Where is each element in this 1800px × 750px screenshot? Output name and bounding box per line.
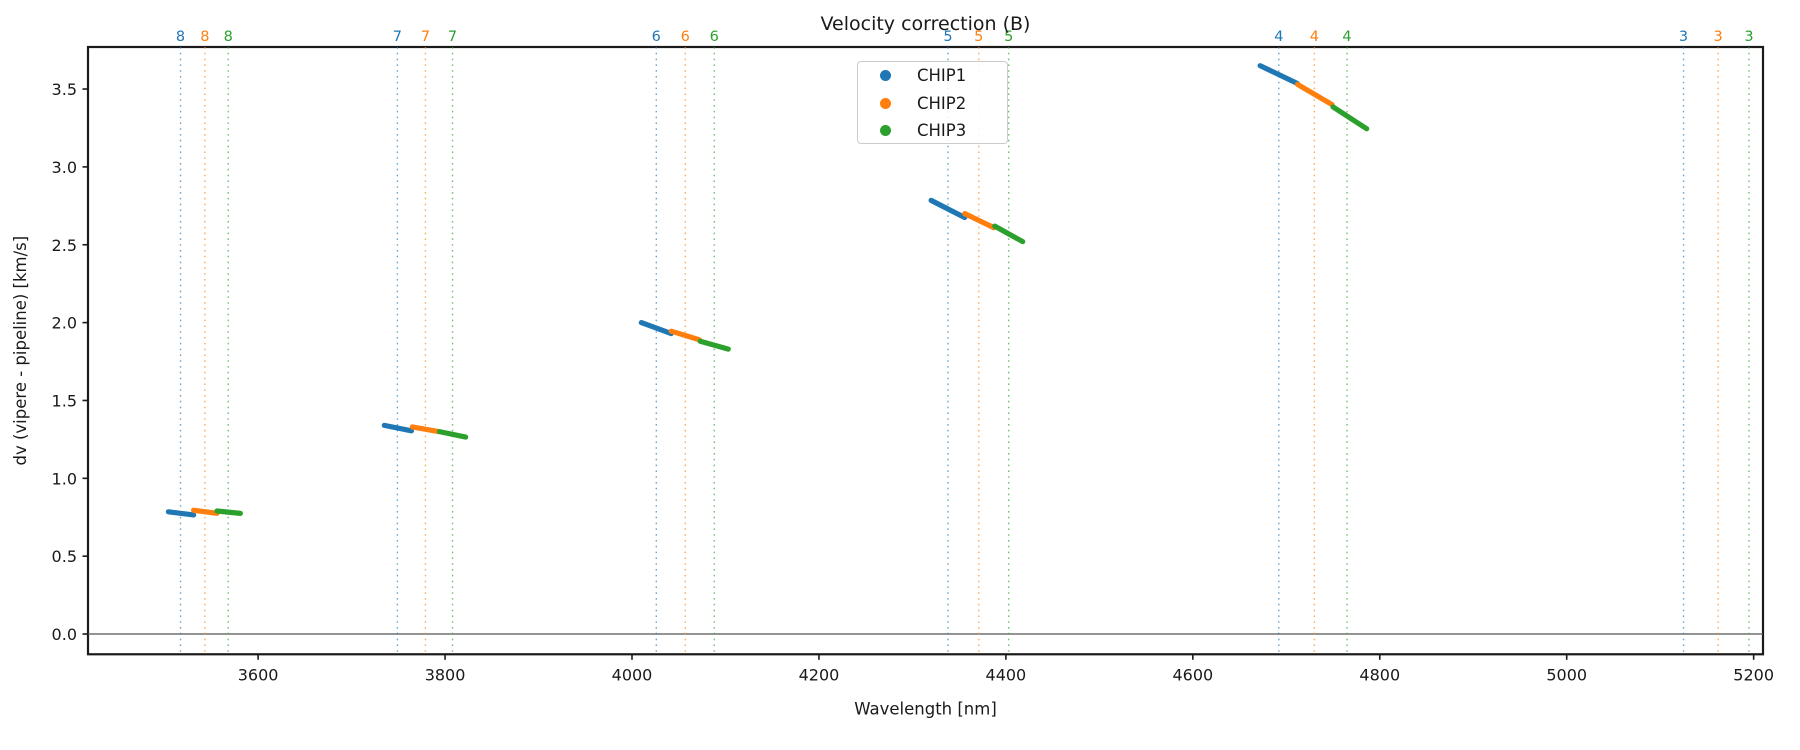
data-segment-chip1 [384, 425, 411, 430]
data-segment-chip3 [700, 341, 728, 349]
x-tick-label: 4000 [612, 665, 653, 684]
legend-item-chip1[interactable]: CHIP1 [858, 62, 1007, 90]
x-tick-label: 4200 [799, 665, 840, 684]
y-tick-label: 3.0 [52, 158, 77, 177]
data-segment-chip2 [1298, 84, 1333, 104]
x-tick-label: 4600 [1172, 665, 1213, 684]
x-tick-label: 4800 [1359, 665, 1400, 684]
y-tick-label: 1.5 [52, 391, 77, 410]
y-tick-label: 2.5 [52, 236, 77, 255]
data-segment-chip1 [1260, 66, 1297, 84]
y-tick-label: 0.0 [52, 625, 77, 644]
figure-canvas: 8887776665554443333600380040004200440046… [0, 0, 1800, 750]
legend-label-chip2: CHIP2 [917, 94, 966, 113]
top-axis-order-label: 6 [710, 29, 719, 45]
data-segment-chip2 [194, 510, 217, 513]
top-axis-order-label: 4 [1342, 29, 1351, 45]
x-tick-label: 5200 [1733, 665, 1774, 684]
legend-item-chip2[interactable]: CHIP2 [858, 90, 1007, 118]
data-segment-chip3 [1333, 107, 1367, 129]
x-axis-label: Wavelength [nm] [854, 699, 997, 718]
top-axis-order-label: 6 [681, 29, 690, 45]
data-segment-chip1 [931, 200, 965, 217]
chart-title: Velocity correction (B) [821, 13, 1031, 35]
legend-marker-chip3 [880, 125, 891, 136]
x-tick-label: 3800 [425, 665, 466, 684]
top-axis-order-label: 3 [1679, 29, 1688, 45]
top-axis-order-label: 8 [224, 29, 233, 45]
data-segment-chip3 [217, 511, 240, 513]
top-axis-order-label: 4 [1310, 29, 1319, 45]
legend-label-chip3: CHIP3 [917, 121, 966, 140]
data-segment-chip1 [168, 512, 193, 515]
top-axis-order-label: 7 [393, 29, 402, 45]
x-tick-label: 4400 [986, 665, 1027, 684]
top-axis-order-label: 4 [1274, 29, 1283, 45]
y-tick-label: 2.0 [52, 314, 77, 333]
top-axis-order-label: 3 [1714, 29, 1723, 45]
y-tick-label: 0.5 [52, 547, 77, 566]
y-tick-label: 1.0 [52, 469, 77, 488]
top-axis-order-label: 8 [176, 29, 185, 45]
data-segment-chip3 [439, 432, 465, 437]
x-tick-label: 5000 [1546, 665, 1587, 684]
legend-item-chip3[interactable]: CHIP3 [858, 117, 1007, 145]
y-tick-label: 3.5 [52, 80, 77, 99]
x-tick-label: 3600 [238, 665, 279, 684]
legend-label-chip1: CHIP1 [917, 66, 966, 85]
data-segment-chip2 [412, 427, 438, 432]
chart-legend: CHIP1 CHIP2 CHIP3 [857, 61, 1008, 144]
top-axis-order-label: 7 [448, 29, 457, 45]
y-axis-label: dv (vipere - pipeline) [km/s] [11, 236, 30, 466]
top-axis-order-label: 8 [200, 29, 209, 45]
legend-marker-chip1 [880, 70, 891, 81]
top-axis-order-label: 7 [421, 29, 430, 45]
top-axis-order-label: 3 [1744, 29, 1753, 45]
legend-marker-chip2 [880, 98, 891, 109]
top-axis-order-label: 6 [652, 29, 661, 45]
